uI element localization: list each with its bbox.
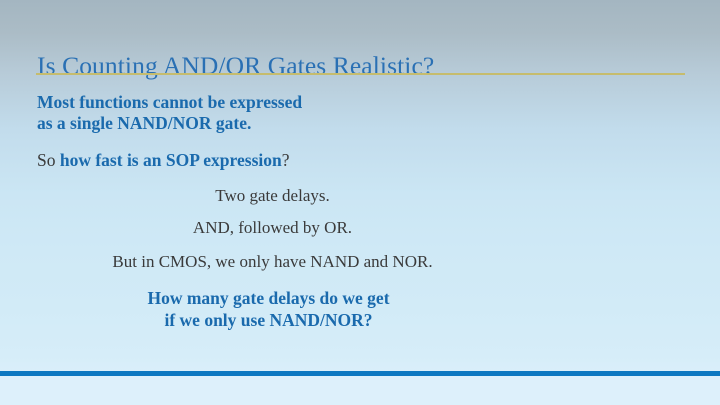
bullet-question-prefix: So	[37, 150, 60, 170]
closing-question-line2: if we only use NAND/NOR?	[0, 309, 537, 331]
closing-question-line1: How many gate delays do we get	[0, 287, 537, 309]
page-title: Is Counting AND/OR Gates Realistic?	[37, 51, 687, 81]
answer-line-3: But in CMOS, we only have NAND and NOR.	[0, 252, 545, 272]
title-divider	[36, 73, 685, 75]
answer-line-2: AND, followed by OR.	[0, 218, 545, 238]
slide-body: Most functions cannot be expressed as a …	[0, 92, 720, 342]
bullet-question: So how fast is an SOP expression?	[37, 150, 290, 171]
bullet-statement-line2: as a single NAND/NOR gate.	[37, 113, 302, 134]
bullet-statement: Most functions cannot be expressed as a …	[37, 92, 302, 134]
bullet-statement-line1: Most functions cannot be expressed	[37, 92, 302, 113]
closing-question: How many gate delays do we get if we onl…	[0, 287, 537, 331]
slide-canvas: Is Counting AND/OR Gates Realistic? Most…	[0, 0, 720, 405]
footer-band: ECE 120: Introduction to Computing © 201…	[0, 376, 720, 405]
bullet-question-emphasis: how fast is an SOP expression	[60, 150, 282, 170]
bullet-question-suffix: ?	[282, 150, 290, 170]
answer-line-1: Two gate delays.	[0, 186, 545, 206]
